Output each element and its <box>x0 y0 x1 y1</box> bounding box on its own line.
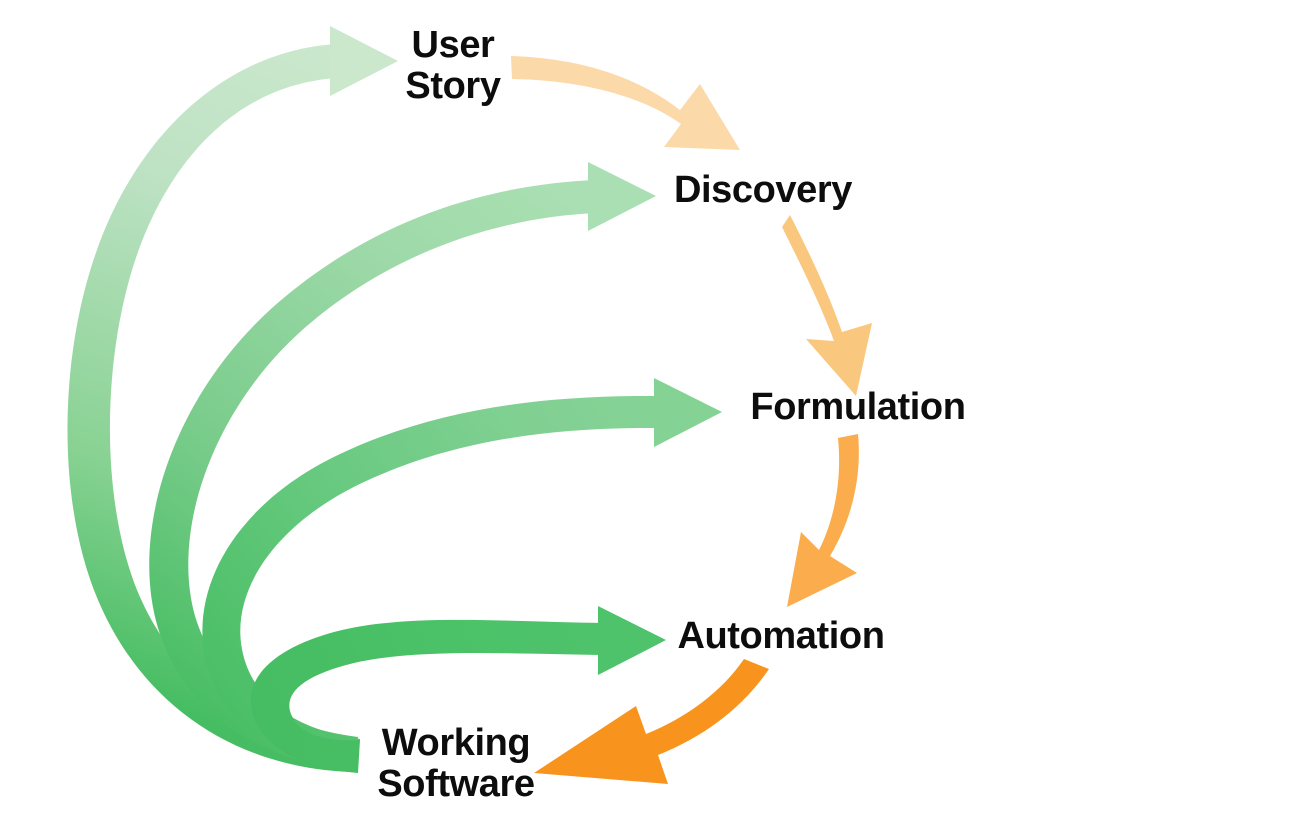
flow-arrows-canvas <box>0 0 1315 818</box>
forward-arrow-user-story-to-discovery <box>511 56 740 150</box>
forward-arrow-formulation-to-automation <box>787 434 859 607</box>
stage-label-user-story: User Story <box>373 25 533 106</box>
forward-arrow-discovery-to-formulation <box>782 215 872 396</box>
bdd-cycle-diagram: User Story Discovery Formulation Automat… <box>0 0 1315 818</box>
forward-arrow-automation-to-working-software <box>534 659 769 784</box>
stage-label-working-software: Working Software <box>356 723 556 804</box>
stage-label-formulation: Formulation <box>738 387 978 428</box>
stage-label-discovery: Discovery <box>663 170 863 211</box>
stage-label-automation: Automation <box>661 616 901 657</box>
